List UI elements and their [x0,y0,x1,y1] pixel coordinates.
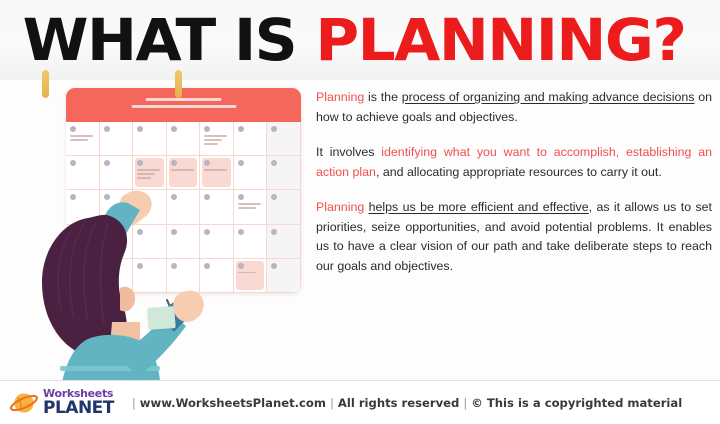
calendar-pin-left-icon [42,70,49,98]
paragraph2-tail: , and allocating appropriate resources t… [376,165,662,179]
paragraph1-mid: is the [364,90,402,104]
paragraph3-lead-red: Planning [316,200,364,214]
sticky-note [147,306,175,330]
page-title-part-red: PLANNING? [315,6,685,74]
ear [120,287,135,312]
footer-sep-1: | [128,396,140,410]
worksheets-planet-logo[interactable]: Worksheets PLANET [10,388,114,418]
calendar-pin-right-icon [175,70,182,98]
paragraph3-underlined: helps us be more efficient and effective [369,200,589,214]
planet-icon [10,388,40,418]
footer-sep-2: | [326,396,338,410]
footer-credits: |www.WorksheetsPlanet.com|All rights res… [128,396,682,410]
page-title-part-black: WHAT IS [23,6,316,74]
footer-bar: Worksheets PLANET |www.WorksheetsPlanet.… [0,380,720,424]
illustration-planning-calendar [0,78,310,380]
footer-rights: All rights reserved [338,396,459,410]
body-text-column: Planning is the process of organizing an… [316,88,712,276]
title-banner: WHAT IS PLANNING? [0,0,720,80]
paragraph1-lead-red: Planning [316,90,364,104]
infographic-page: WHAT IS PLANNING? [0,0,720,424]
paragraph2-lead: It involves [316,145,381,159]
footer-copyright: © This is a copyrighted material [471,396,682,410]
paragraph-involves: It involves identifying what you want to… [316,143,712,182]
footer-sep-3: | [459,396,471,410]
footer-website[interactable]: www.WorksheetsPlanet.com [140,396,326,410]
pointing-hand [173,291,204,322]
logo-wordmark: Worksheets PLANET [43,388,114,417]
woman-figure [0,78,310,380]
logo-planet-text: PLANET [43,400,114,417]
page-title: WHAT IS PLANNING? [0,11,685,69]
paragraph-benefits: Planning helps us be more efficient and … [316,198,712,276]
paragraph-definition: Planning is the process of organizing an… [316,88,712,127]
paragraph1-underlined: process of organizing and making advance… [402,90,695,104]
